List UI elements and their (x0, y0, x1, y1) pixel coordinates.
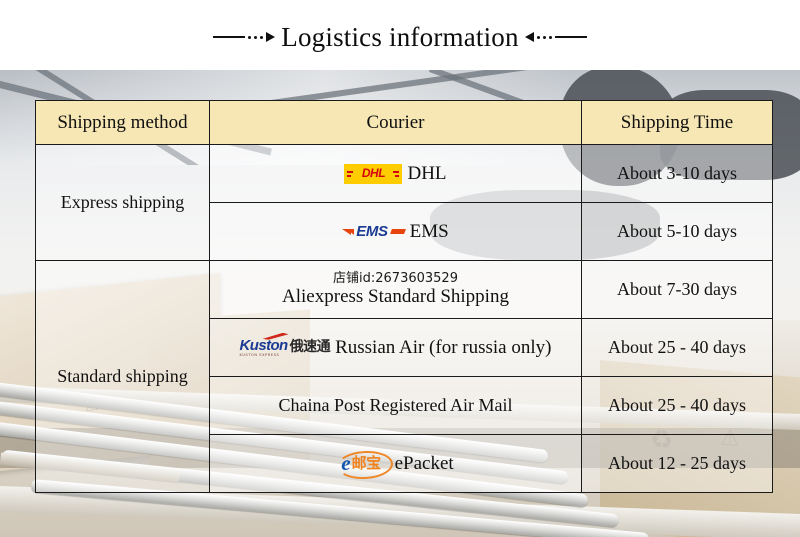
title-text: Logistics information (281, 22, 518, 53)
courier-name: ePacket (395, 454, 454, 474)
courier-aliexpress: 店铺id:2673603529 Aliexpress Standard Ship… (210, 261, 582, 319)
table-row: Standard shipping 店铺id:2673603529 Aliexp… (36, 261, 773, 319)
method-standard-shipping: Standard shipping (36, 261, 210, 493)
table-row: Express shipping DHL DHL About 3-10 days (36, 145, 773, 203)
shipping-time: About 5-10 days (582, 203, 773, 261)
ornament-right-icon (525, 32, 587, 42)
header-courier: Courier (210, 101, 582, 145)
dhl-logo-icon: DHL (344, 164, 402, 184)
courier-name: EMS (410, 222, 449, 242)
table-header-row: Shipping method Courier Shipping Time (36, 101, 773, 145)
courier-name: Russian Air (for russia only) (335, 338, 551, 358)
courier-dhl: DHL DHL (210, 145, 582, 203)
ems-logo-icon: EMS (342, 222, 404, 242)
courier-china-post: Chaina Post Registered Air Mail (210, 377, 582, 435)
shop-id-text: 店铺id:2673603529 (333, 272, 458, 287)
courier-name: DHL (407, 164, 446, 184)
header-shipping-method: Shipping method (36, 101, 210, 145)
kuston-logo-sub: KUSTON EXPRESS (240, 354, 280, 358)
ems-logo-text: EMS (356, 224, 387, 240)
method-express-shipping: Express shipping (36, 145, 210, 261)
kuston-logo-icon: Kuston KUSTON EXPRESS 俄速通 (240, 338, 331, 358)
courier-epacket: e 邮宝 ePacket (210, 435, 582, 493)
shipping-time: About 12 - 25 days (582, 435, 773, 493)
shipping-time: About 25 - 40 days (582, 319, 773, 377)
shipping-time: About 7-30 days (582, 261, 773, 319)
courier-ems: EMS EMS (210, 203, 582, 261)
kuston-logo-cn: 俄速通 (290, 340, 331, 355)
courier-name: Aliexpress Standard Shipping (282, 286, 509, 307)
ornament-left-icon (213, 32, 275, 42)
courier-russian-air: Kuston KUSTON EXPRESS 俄速通 Russian Air (f… (210, 319, 582, 377)
logistics-table: Shipping method Courier Shipping Time Ex… (35, 100, 773, 493)
shipping-time: About 25 - 40 days (582, 377, 773, 435)
shipping-time: About 3-10 days (582, 145, 773, 203)
dhl-logo-text: DHL (362, 167, 385, 180)
page-title: Logistics information (0, 16, 800, 58)
epacket-logo-icon: e 邮宝 (337, 452, 389, 475)
header-shipping-time: Shipping Time (582, 101, 773, 145)
kuston-logo-text: Kuston (240, 338, 288, 353)
